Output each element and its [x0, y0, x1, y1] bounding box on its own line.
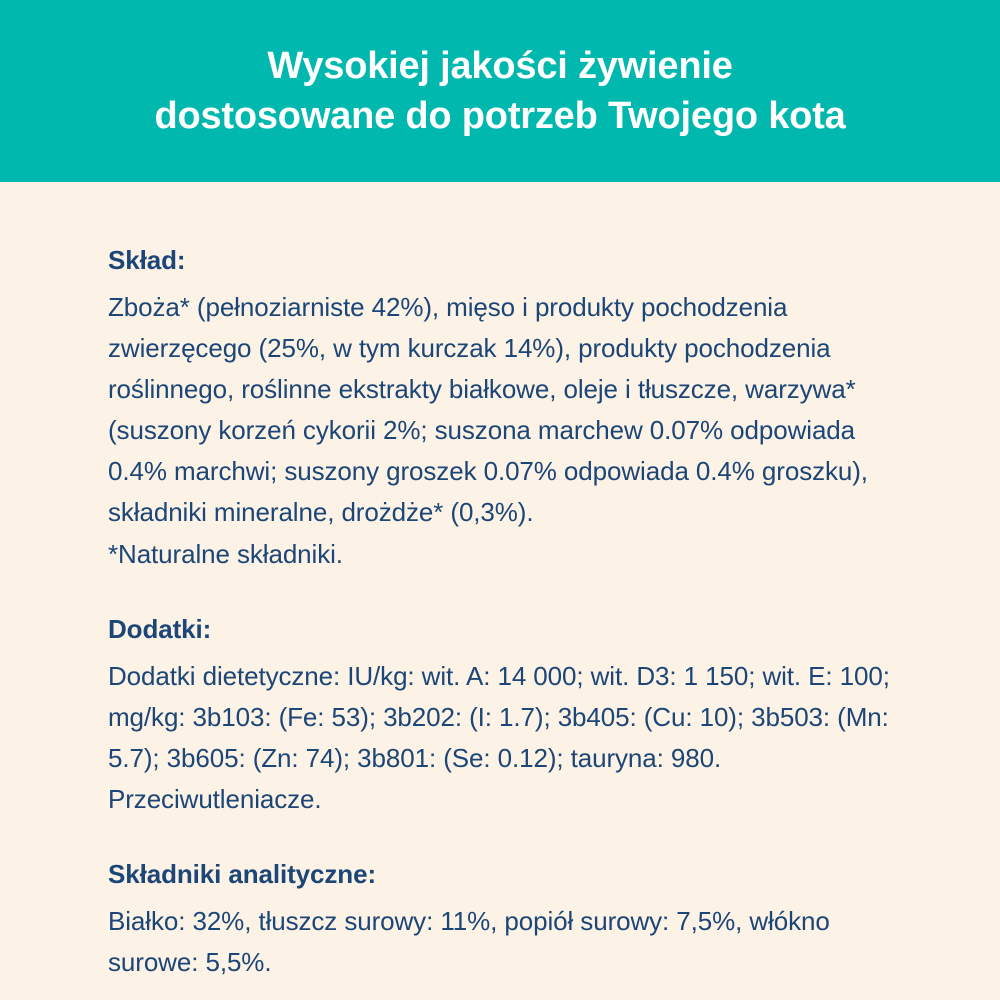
composition-note: *Naturalne składniki.	[108, 534, 900, 575]
section-additives: Dodatki: Dodatki dietetyczne: IU/kg: wit…	[108, 609, 900, 820]
section-composition: Skład: Zboża* (pełnoziarniste 42%), mięs…	[108, 240, 900, 575]
content-area: Skład: Zboża* (pełnoziarniste 42%), mięs…	[0, 182, 1000, 983]
section-analytical-constituents: Składniki analityczne: Białko: 32%, tłus…	[108, 854, 900, 983]
product-info-page: Wysokiej jakości żywienie dostosowane do…	[0, 0, 1000, 1000]
additives-heading: Dodatki:	[108, 609, 900, 650]
header-banner: Wysokiej jakości żywienie dostosowane do…	[0, 0, 1000, 182]
additives-body: Dodatki dietetyczne: IU/kg: wit. A: 14 0…	[108, 656, 900, 820]
composition-heading: Skład:	[108, 240, 900, 281]
composition-body: Zboża* (pełnoziarniste 42%), mięso i pro…	[108, 287, 900, 533]
analytical-constituents-heading: Składniki analityczne:	[108, 854, 900, 895]
analytical-constituents-body: Białko: 32%, tłuszcz surowy: 11%, popiół…	[108, 901, 900, 983]
banner-title: Wysokiej jakości żywienie dostosowane do…	[154, 41, 845, 141]
